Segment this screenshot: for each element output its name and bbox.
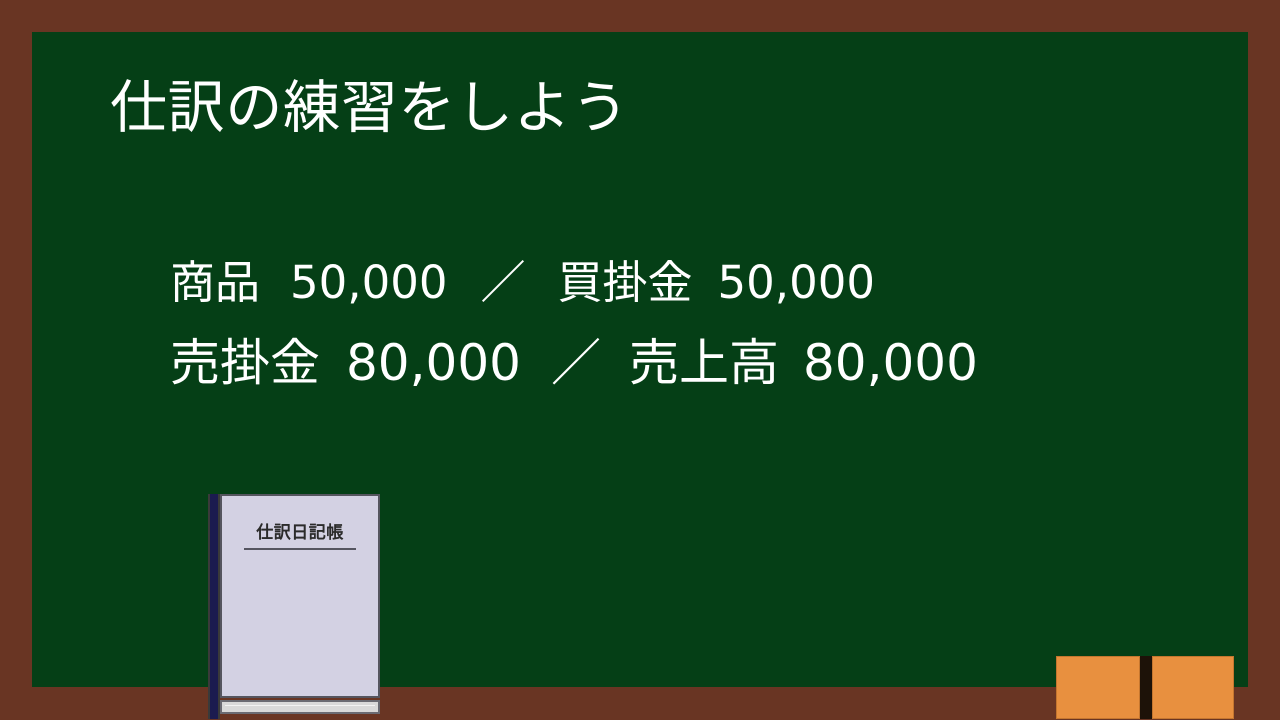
book-cover: 仕訳日記帳	[220, 494, 380, 698]
debit-account-label: 商品	[170, 260, 260, 305]
chalk-block-left	[1056, 656, 1140, 719]
journal-entry-row: 売掛金80,000／売上高80,000	[170, 338, 978, 388]
entry-separator: ／	[480, 260, 525, 305]
debit-account-label: 売掛金	[170, 338, 320, 388]
chalkboard-slide: 仕訳の練習をしよう 商品50,000／買掛金50,000 売掛金80,000／売…	[0, 0, 1280, 720]
ledger-book-illustration: 仕訳日記帳	[208, 494, 380, 719]
page-title: 仕訳の練習をしよう	[110, 80, 629, 137]
book-page-highlight	[225, 705, 375, 706]
debit-amount-value: 50,000	[290, 260, 447, 305]
chalk-ledge-blocks	[1056, 656, 1234, 719]
journal-entries: 商品50,000／買掛金50,000 売掛金80,000／売上高80,000	[170, 260, 978, 388]
credit-account-label: 売上高	[629, 338, 779, 388]
journal-entry-row: 商品50,000／買掛金50,000	[170, 260, 978, 305]
book-page-edge	[220, 700, 380, 714]
credit-amount-value: 50,000	[718, 260, 875, 305]
credit-amount-value: 80,000	[803, 338, 978, 388]
chalk-block-gap	[1140, 656, 1152, 719]
debit-amount-value: 80,000	[346, 338, 521, 388]
book-spine	[208, 494, 220, 719]
chalk-block-right	[1152, 656, 1234, 719]
credit-account-label: 買掛金	[558, 260, 693, 305]
entry-separator: ／	[551, 338, 601, 388]
book-cover-rule	[244, 548, 356, 550]
chalkboard-surface: 仕訳の練習をしよう 商品50,000／買掛金50,000 売掛金80,000／売…	[32, 32, 1248, 687]
book-cover-title: 仕訳日記帳	[222, 518, 378, 543]
book-spine-foot	[208, 700, 220, 714]
